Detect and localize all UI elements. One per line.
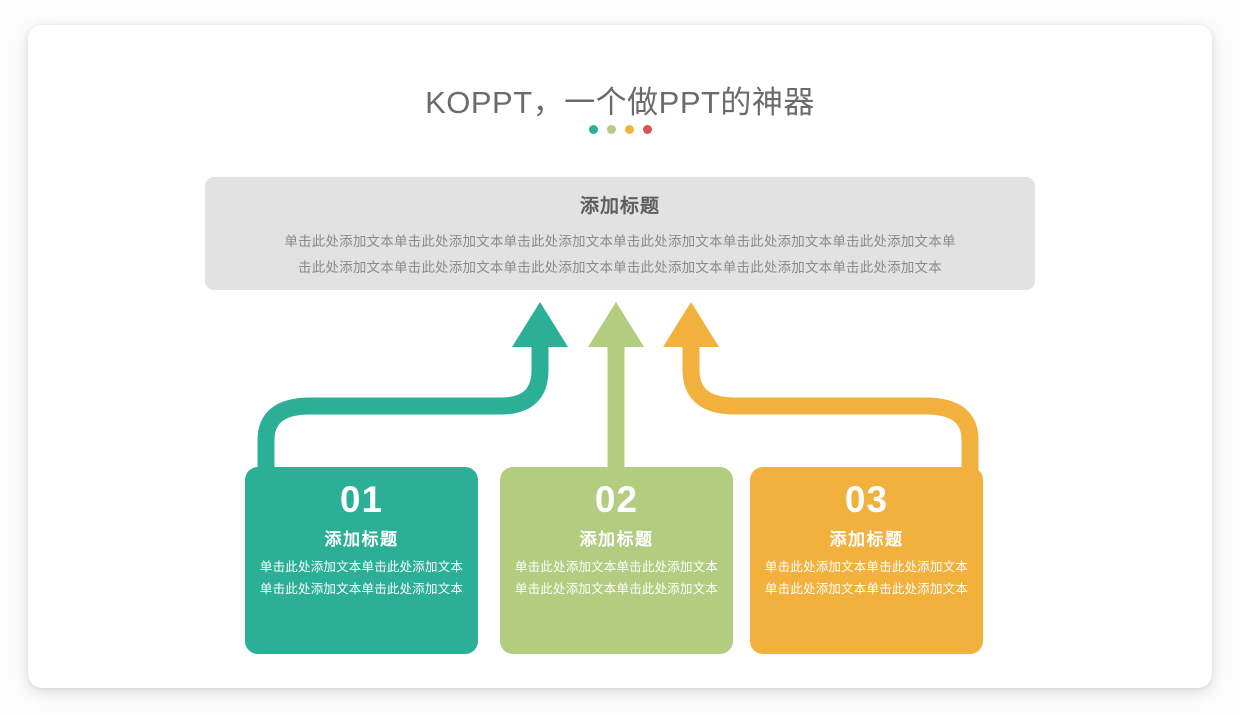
step-card-02-body: 单击此处添加文本单击此处添加文本单击此处添加文本单击此处添加文本 bbox=[500, 557, 733, 600]
dot-red-icon bbox=[643, 125, 652, 134]
step-card-01-body: 单击此处添加文本单击此处添加文本单击此处添加文本单击此处添加文本 bbox=[245, 557, 478, 600]
step-card-03[interactable]: 03 添加标题 单击此处添加文本单击此处添加文本单击此处添加文本单击此处添加文本 bbox=[750, 467, 983, 654]
summary-banner-line-2: 击此处添加文本单击此处添加文本单击此处添加文本单击此处添加文本单击此处添加文本单… bbox=[231, 255, 1009, 281]
step-card-01[interactable]: 01 添加标题 单击此处添加文本单击此处添加文本单击此处添加文本单击此处添加文本 bbox=[245, 467, 478, 654]
arrow-curve-right-up-teal bbox=[266, 302, 568, 477]
step-card-03-title: 添加标题 bbox=[750, 525, 983, 550]
step-card-01-number: 01 bbox=[245, 479, 478, 520]
arrow-curve-left-up-orange bbox=[663, 302, 970, 477]
page-title: KOPPT，一个做PPT的神器 bbox=[28, 77, 1212, 122]
dot-green-icon bbox=[607, 125, 616, 134]
step-card-03-number: 03 bbox=[750, 479, 983, 520]
summary-banner-title: 添加标题 bbox=[231, 193, 1009, 222]
accent-dot-row bbox=[28, 125, 1212, 134]
step-card-03-body: 单击此处添加文本单击此处添加文本单击此处添加文本单击此处添加文本 bbox=[750, 557, 983, 600]
summary-banner-line-1: 单击此处添加文本单击此处添加文本单击此处添加文本单击此处添加文本单击此处添加文本… bbox=[231, 229, 1009, 255]
dot-orange-icon bbox=[625, 125, 634, 134]
arrow-straight-up-green bbox=[588, 302, 644, 477]
slide-canvas: KOPPT，一个做PPT的神器 添加标题 单击此处添加文本单击此处添加文本单击此… bbox=[0, 0, 1240, 715]
step-card-02-number: 02 bbox=[500, 479, 733, 520]
step-card-02-title: 添加标题 bbox=[500, 525, 733, 550]
dot-teal-icon bbox=[589, 125, 598, 134]
step-card-01-title: 添加标题 bbox=[245, 525, 478, 550]
summary-banner[interactable]: 添加标题 单击此处添加文本单击此处添加文本单击此处添加文本单击此处添加文本单击此… bbox=[205, 177, 1035, 290]
slide-surface: KOPPT，一个做PPT的神器 添加标题 单击此处添加文本单击此处添加文本单击此… bbox=[28, 25, 1212, 688]
step-card-02[interactable]: 02 添加标题 单击此处添加文本单击此处添加文本单击此处添加文本单击此处添加文本 bbox=[500, 467, 733, 654]
